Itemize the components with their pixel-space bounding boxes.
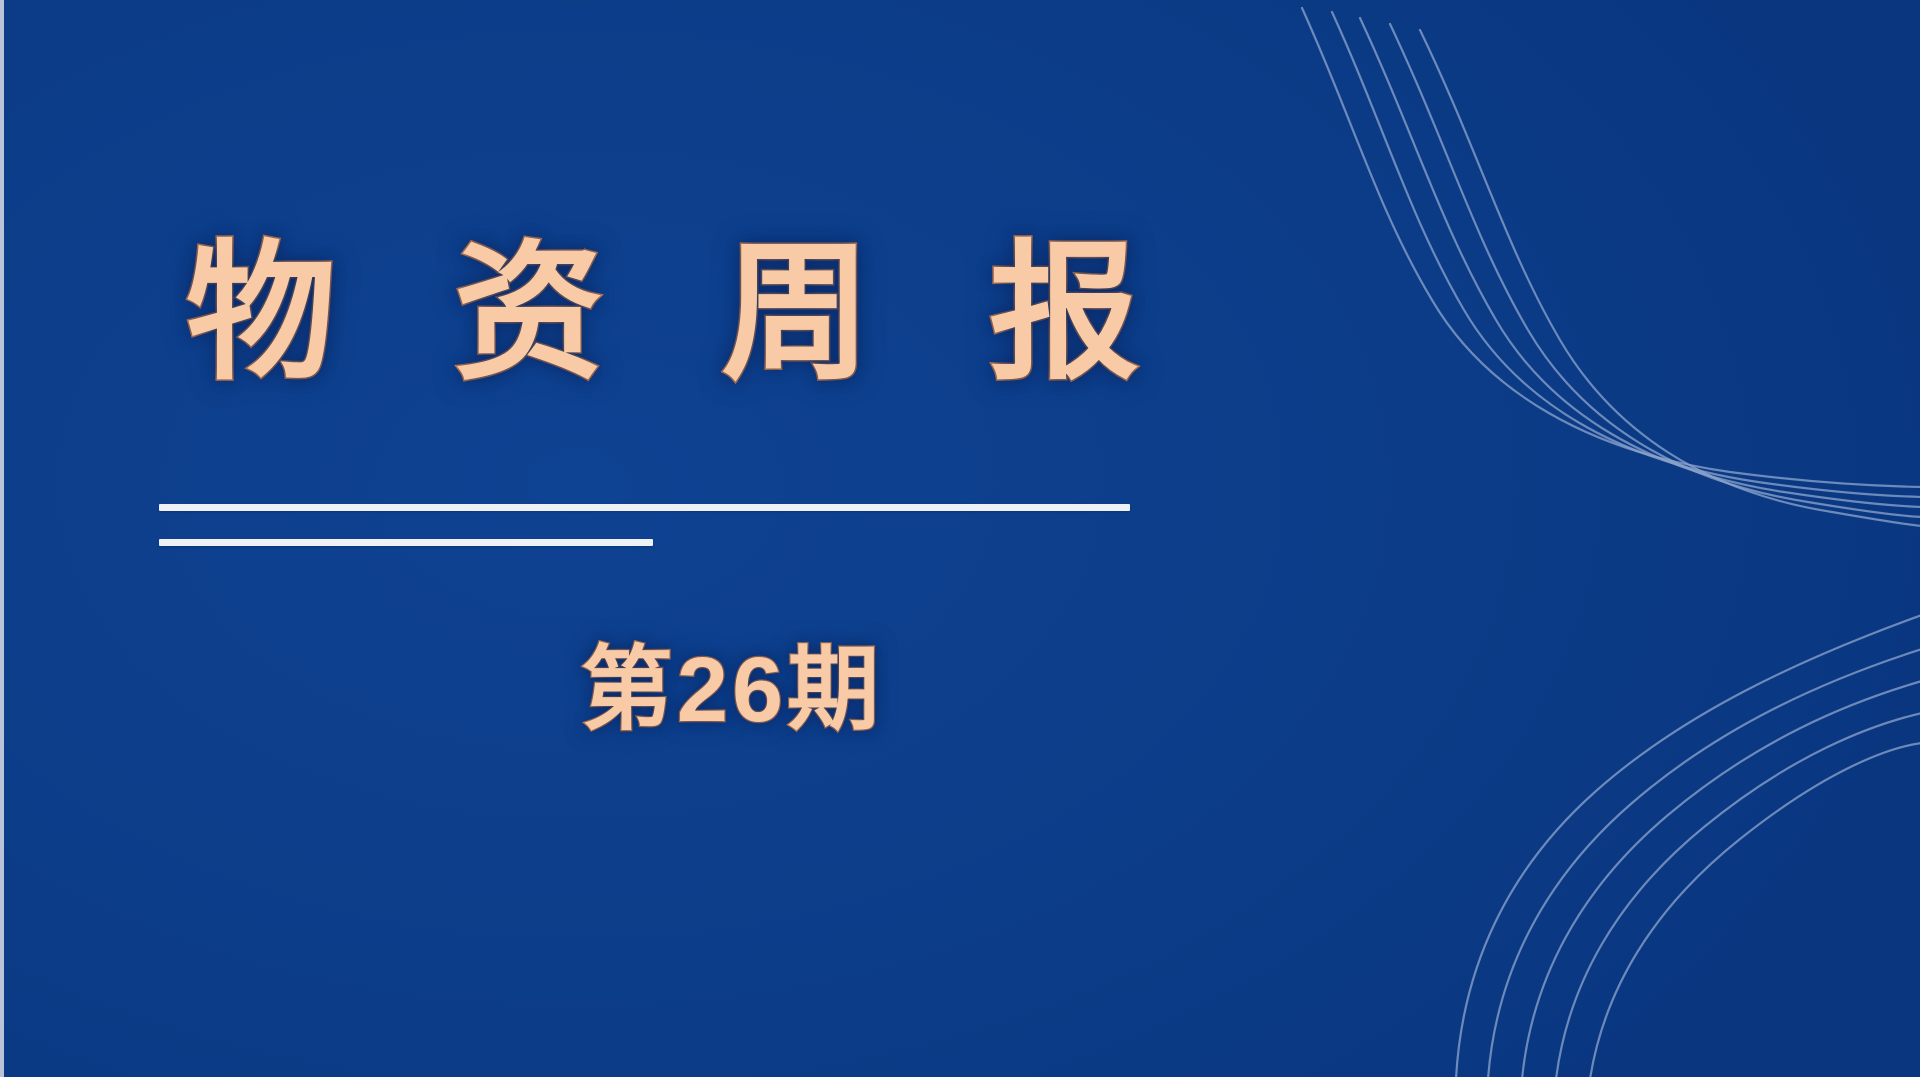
wave-line-5 [1420,30,1920,526]
arc-line-5 [1590,743,1920,1077]
wave-line-1 [1302,8,1920,487]
wave-lines-top-right-decoration [1260,0,1920,560]
arc-line-3 [1522,681,1920,1077]
title-slide: 物 资 周 报 第26期 [0,0,1920,1077]
issue-subtitle: 第26期 [154,638,1282,744]
wave-lines-bottom-right-decoration [1240,577,1920,1077]
arc-line-1 [1456,615,1920,1077]
wave-line-4 [1390,24,1920,517]
title-block: 物 资 周 报 [154,222,1254,405]
title-underline-short [159,539,653,546]
title-underline-group [154,504,1254,546]
arc-line-4 [1556,713,1920,1077]
wave-line-3 [1360,18,1920,507]
title-underline-long [159,504,1130,511]
arc-line-2 [1488,649,1920,1077]
page-title: 物 资 周 报 [154,222,1254,405]
wave-line-2 [1332,12,1920,497]
